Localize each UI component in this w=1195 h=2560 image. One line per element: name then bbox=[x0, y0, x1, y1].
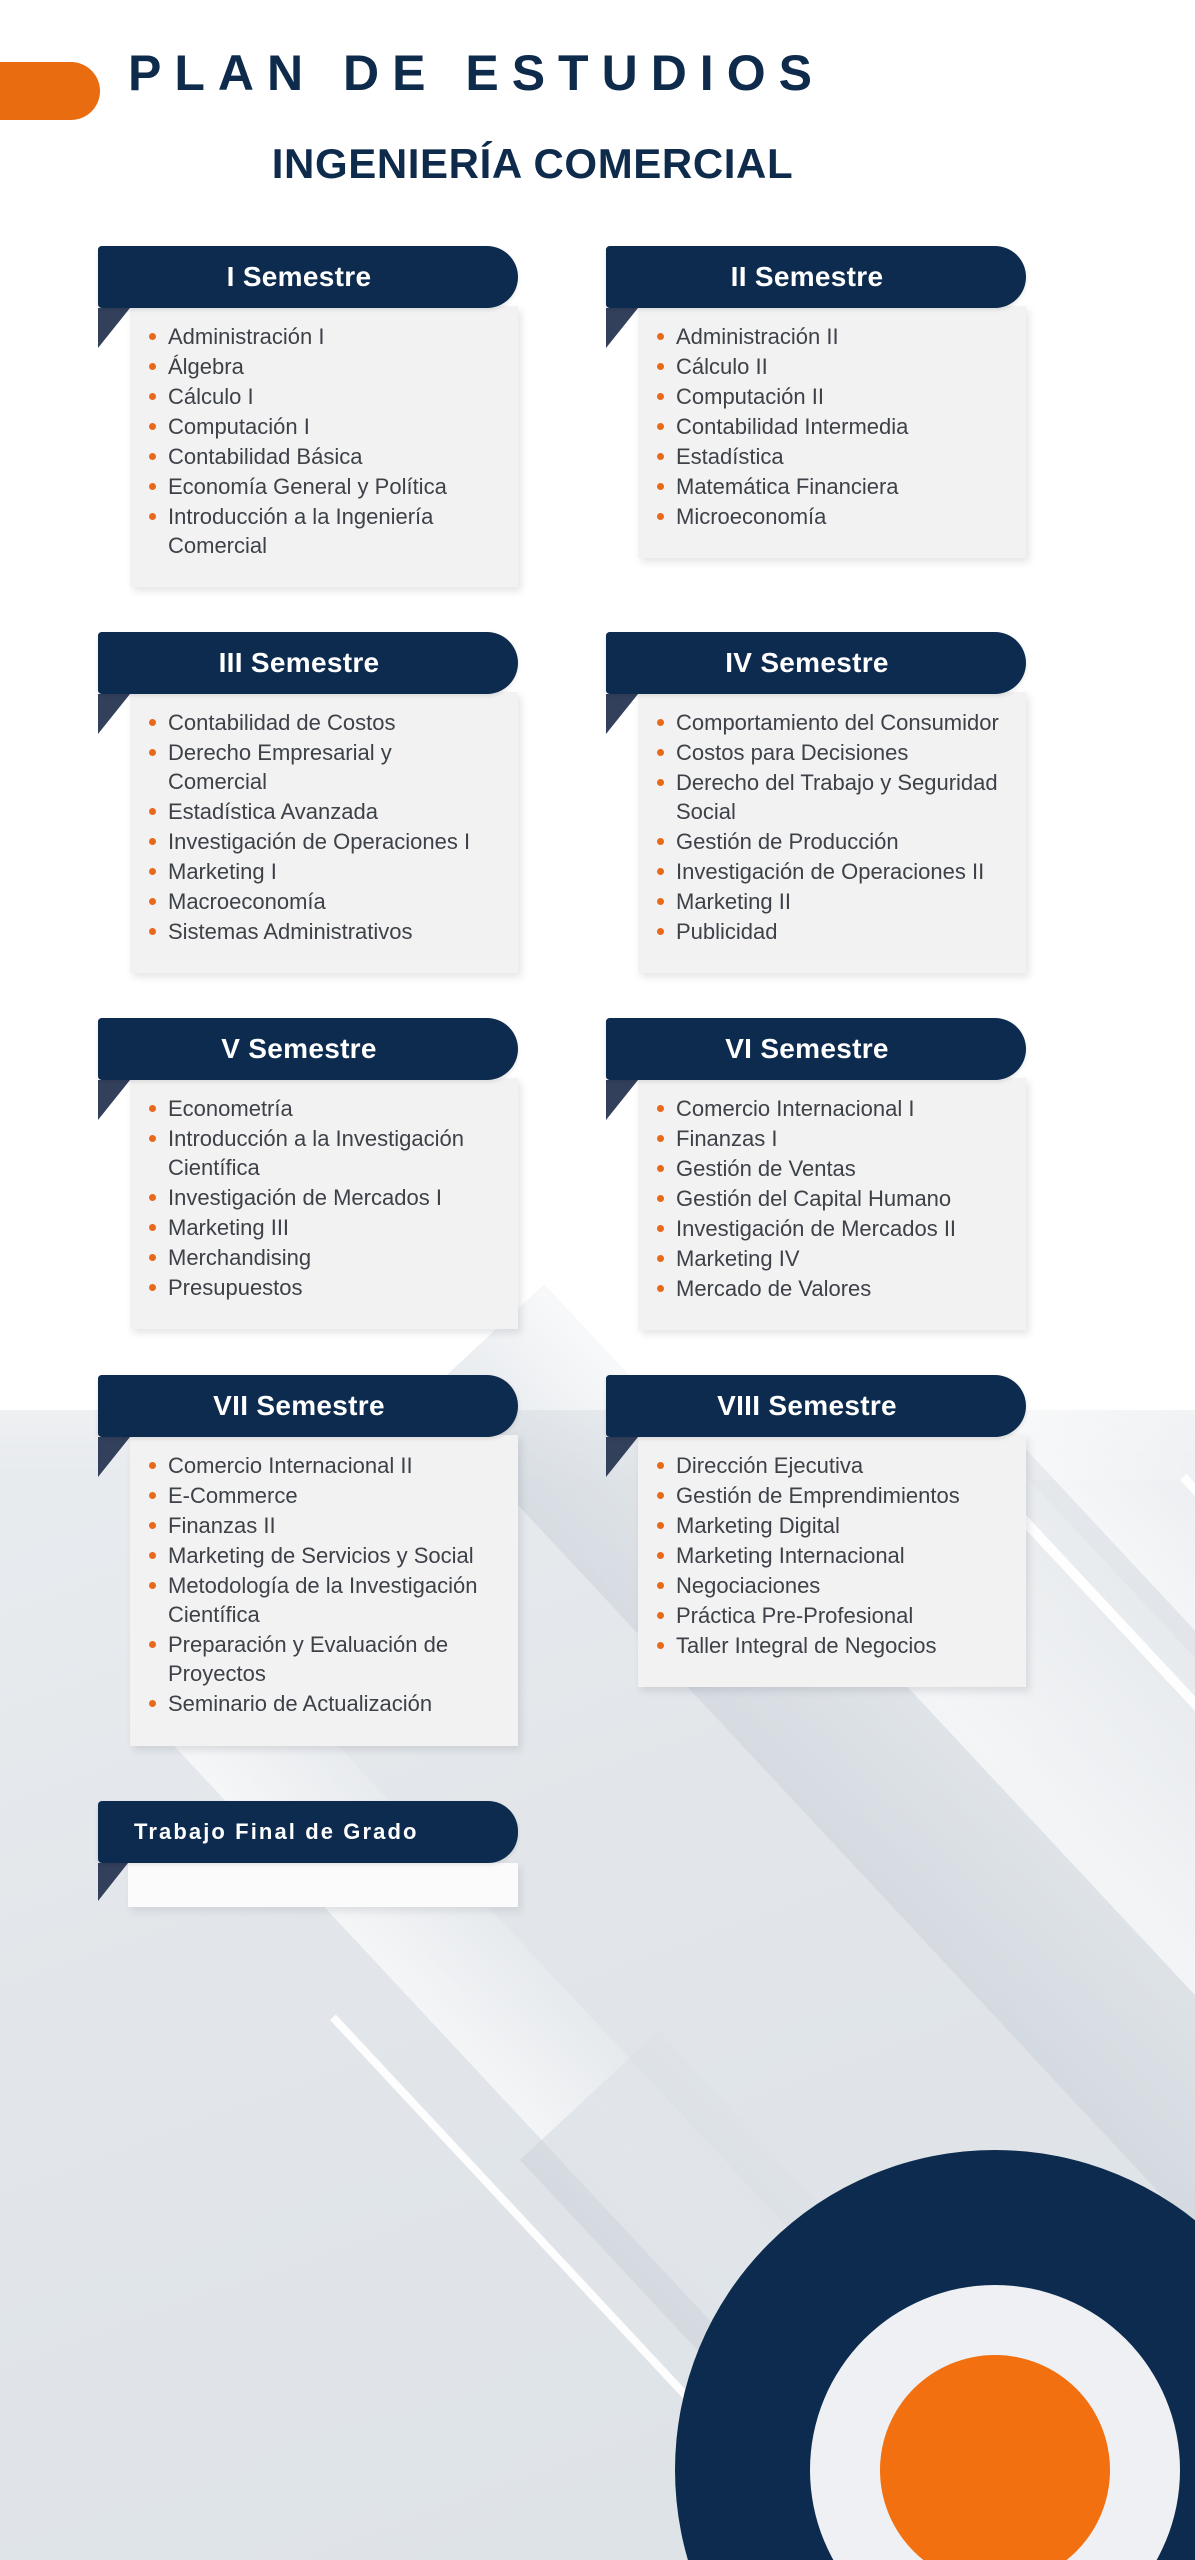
semester-body: Comercio Internacional II E-Commerce Fin… bbox=[130, 1435, 518, 1745]
list-item: Introducción a la Ingeniería Comercial bbox=[146, 502, 496, 560]
semester-title: VI Semestre bbox=[725, 1033, 907, 1065]
course-list: Contabilidad de Costos Derecho Empresari… bbox=[146, 708, 496, 946]
semester-header[interactable]: VI Semestre bbox=[606, 1018, 1026, 1080]
list-item: Administración I bbox=[146, 322, 496, 351]
semester-header[interactable]: IV Semestre bbox=[606, 632, 1026, 694]
list-item: Dirección Ejecutiva bbox=[654, 1451, 1004, 1480]
page-subtitle: INGENIERÍA COMERCIAL bbox=[0, 140, 1195, 188]
semester-header[interactable]: II Semestre bbox=[606, 246, 1026, 308]
list-item: Finanzas I bbox=[654, 1124, 1004, 1153]
semester-title: VIII Semestre bbox=[717, 1390, 915, 1422]
semester-card-1: I Semestre Administración I Álgebra Cálc… bbox=[98, 246, 518, 587]
list-item: Gestión de Emprendimientos bbox=[654, 1481, 1004, 1510]
fold-corner bbox=[606, 1437, 638, 1477]
list-item: Contabilidad Intermedia bbox=[654, 412, 1004, 441]
fold-corner bbox=[98, 1437, 130, 1477]
list-item: Práctica Pre-Profesional bbox=[654, 1601, 1004, 1630]
list-item: Economía General y Política bbox=[146, 472, 496, 501]
list-item: Contabilidad de Costos bbox=[146, 708, 496, 737]
list-item: Finanzas II bbox=[146, 1511, 496, 1540]
list-item: Investigación de Mercados II bbox=[654, 1214, 1004, 1243]
semester-title: IV Semestre bbox=[725, 647, 907, 679]
semester-title: VII Semestre bbox=[213, 1390, 403, 1422]
list-item: Mercado de Valores bbox=[654, 1274, 1004, 1303]
list-item: Gestión del Capital Humano bbox=[654, 1184, 1004, 1213]
list-item: Matemática Financiera bbox=[654, 472, 1004, 501]
semester-card-8: VIII Semestre Dirección Ejecutiva Gestió… bbox=[606, 1375, 1026, 1687]
list-item: Costos para Decisiones bbox=[654, 738, 1004, 767]
list-item: Cálculo II bbox=[654, 352, 1004, 381]
semester-header[interactable]: V Semestre bbox=[98, 1018, 518, 1080]
list-item: Estadística bbox=[654, 442, 1004, 471]
semester-card-4: IV Semestre Comportamiento del Consumido… bbox=[606, 632, 1026, 973]
list-item: Marketing III bbox=[146, 1213, 496, 1242]
semester-title: II Semestre bbox=[731, 261, 902, 293]
list-item: Seminario de Actualización bbox=[146, 1689, 496, 1718]
list-item: Gestión de Producción bbox=[654, 827, 1004, 856]
fold-corner bbox=[606, 308, 638, 348]
list-item: Comercio Internacional II bbox=[146, 1451, 496, 1480]
list-item: Marketing I bbox=[146, 857, 496, 886]
semester-title: III Semestre bbox=[219, 647, 398, 679]
list-item: Merchandising bbox=[146, 1243, 496, 1272]
semester-body: Administración II Cálculo II Computación… bbox=[638, 306, 1026, 558]
semester-card-3: III Semestre Contabilidad de Costos Dere… bbox=[98, 632, 518, 973]
list-item: Econometría bbox=[146, 1094, 496, 1123]
list-item: Marketing Internacional bbox=[654, 1541, 1004, 1570]
semester-header[interactable]: VII Semestre bbox=[98, 1375, 518, 1437]
fold-corner bbox=[98, 694, 130, 734]
final-thesis-body bbox=[128, 1863, 518, 1907]
list-item: Negociaciones bbox=[654, 1571, 1004, 1600]
list-item: Taller Integral de Negocios bbox=[654, 1631, 1004, 1660]
list-item: Macroeconomía bbox=[146, 887, 496, 916]
course-list: Administración II Cálculo II Computación… bbox=[654, 322, 1004, 531]
list-item: Publicidad bbox=[654, 917, 1004, 946]
plan-de-estudios-page: PLAN DE ESTUDIOS INGENIERÍA COMERCIAL I … bbox=[0, 0, 1195, 2560]
semester-body: Econometría Introducción a la Investigac… bbox=[130, 1078, 518, 1329]
semester-title: V Semestre bbox=[221, 1033, 395, 1065]
list-item: Marketing Digital bbox=[654, 1511, 1004, 1540]
semester-body: Contabilidad de Costos Derecho Empresari… bbox=[130, 692, 518, 973]
course-list: Comportamiento del Consumidor Costos par… bbox=[654, 708, 1004, 946]
fold-corner bbox=[98, 1863, 128, 1901]
page-title: PLAN DE ESTUDIOS bbox=[0, 47, 1195, 100]
list-item: Marketing IV bbox=[654, 1244, 1004, 1273]
semesters-grid: I Semestre Administración I Álgebra Cálc… bbox=[0, 246, 1195, 1791]
orange-accent-tab bbox=[0, 62, 100, 120]
semester-body: Dirección Ejecutiva Gestión de Emprendim… bbox=[638, 1435, 1026, 1687]
course-list: Comercio Internacional I Finanzas I Gest… bbox=[654, 1094, 1004, 1303]
final-thesis-label: Trabajo Final de Grado bbox=[98, 1819, 419, 1845]
list-item: Comportamiento del Consumidor bbox=[654, 708, 1004, 737]
list-item: Investigación de Operaciones II bbox=[654, 857, 1004, 886]
list-item: Administración II bbox=[654, 322, 1004, 351]
fold-corner bbox=[606, 694, 638, 734]
list-item: Presupuestos bbox=[146, 1273, 496, 1302]
fold-corner bbox=[98, 1080, 130, 1120]
list-item: Computación II bbox=[654, 382, 1004, 411]
list-item: Introducción a la Investigación Científi… bbox=[146, 1124, 496, 1182]
fold-corner bbox=[98, 308, 130, 348]
semester-header[interactable]: I Semestre bbox=[98, 246, 518, 308]
semester-card-6: VI Semestre Comercio Internacional I Fin… bbox=[606, 1018, 1026, 1330]
course-list: Comercio Internacional II E-Commerce Fin… bbox=[146, 1451, 496, 1718]
page-header: PLAN DE ESTUDIOS INGENIERÍA COMERCIAL bbox=[0, 0, 1195, 188]
course-list: Econometría Introducción a la Investigac… bbox=[146, 1094, 496, 1302]
list-item: Estadística Avanzada bbox=[146, 797, 496, 826]
list-item: Computación I bbox=[146, 412, 496, 441]
list-item: Álgebra bbox=[146, 352, 496, 381]
list-item: Microeconomía bbox=[654, 502, 1004, 531]
list-item: Investigación de Operaciones I bbox=[146, 827, 496, 856]
final-thesis-header[interactable]: Trabajo Final de Grado bbox=[98, 1801, 518, 1863]
semester-header[interactable]: VIII Semestre bbox=[606, 1375, 1026, 1437]
list-item: Comercio Internacional I bbox=[654, 1094, 1004, 1123]
semester-body: Comercio Internacional I Finanzas I Gest… bbox=[638, 1078, 1026, 1330]
list-item: Metodología de la Investigación Científi… bbox=[146, 1571, 496, 1629]
list-item: Marketing de Servicios y Social bbox=[146, 1541, 496, 1570]
list-item: E-Commerce bbox=[146, 1481, 496, 1510]
list-item: Contabilidad Básica bbox=[146, 442, 496, 471]
semester-body: Administración I Álgebra Cálculo I Compu… bbox=[130, 306, 518, 587]
semester-card-7: VII Semestre Comercio Internacional II E… bbox=[98, 1375, 518, 1745]
course-list: Administración I Álgebra Cálculo I Compu… bbox=[146, 322, 496, 560]
list-item: Marketing II bbox=[654, 887, 1004, 916]
list-item: Derecho del Trabajo y Seguridad Social bbox=[654, 768, 1004, 826]
course-list: Dirección Ejecutiva Gestión de Emprendim… bbox=[654, 1451, 1004, 1660]
final-thesis-card: Trabajo Final de Grado bbox=[98, 1801, 518, 1907]
list-item: Investigación de Mercados I bbox=[146, 1183, 496, 1212]
list-item: Derecho Empresarial y Comercial bbox=[146, 738, 496, 796]
semester-card-2: II Semestre Administración II Cálculo II… bbox=[606, 246, 1026, 558]
list-item: Sistemas Administrativos bbox=[146, 917, 496, 946]
semester-card-5: V Semestre Econometría Introducción a la… bbox=[98, 1018, 518, 1329]
list-item: Gestión de Ventas bbox=[654, 1154, 1004, 1183]
list-item: Preparación y Evaluación de Proyectos bbox=[146, 1630, 496, 1688]
semester-header[interactable]: III Semestre bbox=[98, 632, 518, 694]
semester-title: I Semestre bbox=[227, 261, 390, 293]
list-item: Cálculo I bbox=[146, 382, 496, 411]
fold-corner bbox=[606, 1080, 638, 1120]
semester-body: Comportamiento del Consumidor Costos par… bbox=[638, 692, 1026, 973]
